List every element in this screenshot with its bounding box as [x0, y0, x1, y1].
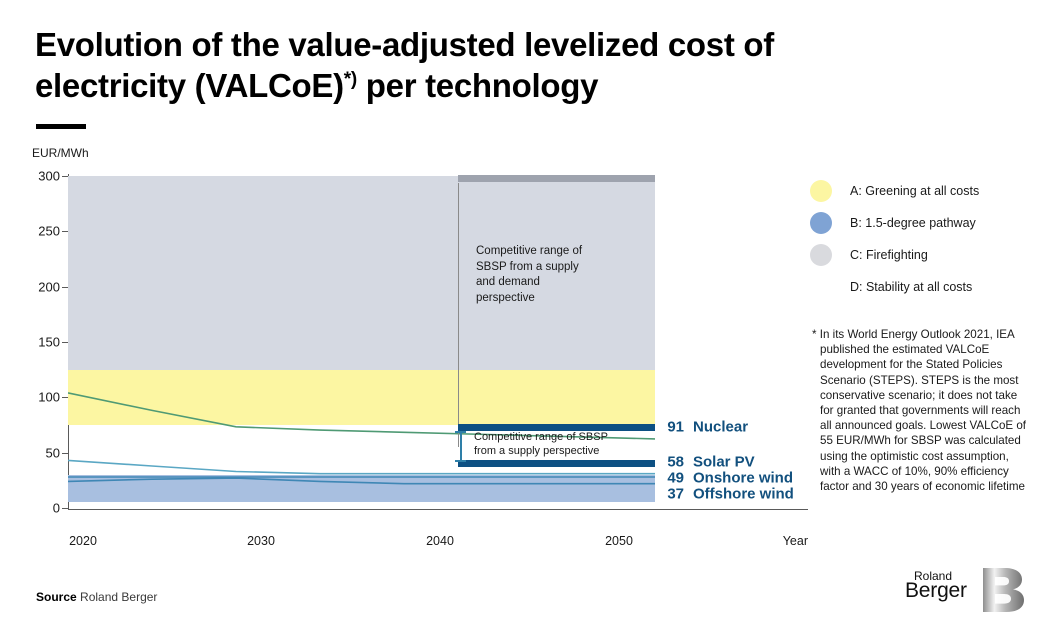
x-tick-2030: 2030 — [247, 534, 275, 548]
series-lines — [68, 176, 655, 508]
competitive-range-supply-arrow — [460, 431, 462, 461]
page-title-line2-tail: per technology — [357, 67, 598, 104]
x-axis-line — [68, 509, 808, 510]
annotation-supply-demand-range: Competitive range of SBSP from a supply … — [476, 244, 588, 306]
end-label-solar-pv: 58Solar PV — [658, 454, 755, 471]
legend-item-stability: D: Stability at all costs — [810, 271, 1030, 303]
x-tick-2020: 2020 — [69, 534, 97, 548]
footnote-text: * In its World Energy Outlook 2021, IEA … — [812, 327, 1032, 494]
competitive-range-supply-bar-lower — [458, 460, 655, 467]
y-tick-250: 250 — [16, 224, 60, 239]
roland-berger-logo: Roland Berger — [905, 567, 1025, 615]
y-tick-200: 200 — [16, 279, 60, 294]
y-tick-300: 300 — [16, 169, 60, 184]
legend-item-15-degree: B: 1.5-degree pathway — [810, 207, 1030, 239]
y-tick-150: 150 — [16, 335, 60, 350]
source-value: Roland Berger — [80, 590, 157, 604]
legend-label-15-degree: B: 1.5-degree pathway — [850, 216, 976, 230]
legend-item-firefighting: C: Firefighting — [810, 239, 1030, 271]
legend-label-stability: D: Stability at all costs — [850, 280, 972, 294]
line-offshore-wind — [68, 478, 655, 484]
end-label-onshore-wind-name: Onshore wind — [693, 470, 793, 487]
chart-legend: A: Greening at all costs B: 1.5-degree p… — [810, 175, 1030, 303]
x-tick-2040: 2040 — [426, 534, 454, 548]
y-tick-0: 0 — [16, 501, 60, 516]
legend-label-firefighting: C: Firefighting — [850, 248, 928, 262]
end-label-offshore-wind-value: 37 — [658, 486, 684, 503]
end-label-onshore-wind-value: 49 — [658, 470, 684, 487]
competitive-range-supply-demand-connector — [458, 183, 459, 447]
x-axis-ticks: 2020 2030 2040 2050 Year — [68, 534, 808, 554]
legend-swatch-firefighting-icon — [810, 244, 832, 266]
page-title: Evolution of the value-adjusted levelize… — [35, 24, 795, 106]
arrow-cap-bottom — [455, 460, 466, 462]
page-title-line2: electricity (VALCoE) — [35, 67, 344, 104]
legend-label-greening: A: Greening at all costs — [850, 184, 979, 198]
end-label-offshore-wind: 37Offshore wind — [658, 486, 794, 503]
y-tick-50: 50 — [16, 445, 60, 460]
annotation-supply-range: Competitive range of SBSP from a supply … — [474, 430, 614, 458]
x-axis-title: Year — [783, 534, 808, 548]
slide-root: Evolution of the value-adjusted levelize… — [0, 0, 1050, 635]
legend-item-greening: A: Greening at all costs — [810, 175, 1030, 207]
legend-swatch-15-degree-icon — [810, 212, 832, 234]
end-label-nuclear-value: 91 — [658, 419, 684, 436]
x-tick-2050: 2050 — [605, 534, 633, 548]
y-tick-100: 100 — [16, 390, 60, 405]
legend-swatch-greening-icon — [810, 180, 832, 202]
source-line: Source Roland Berger — [36, 590, 157, 604]
y-axis-unit-label: EUR/MWh — [32, 146, 89, 160]
logo-text-berger: Berger — [905, 579, 967, 603]
end-label-solar-pv-value: 58 — [658, 454, 684, 471]
end-label-solar-pv-name: Solar PV — [693, 454, 755, 471]
logo-b-mark-icon — [981, 567, 1025, 613]
end-label-offshore-wind-name: Offshore wind — [693, 486, 794, 503]
end-label-nuclear-name: Nuclear — [693, 419, 748, 436]
arrow-cap-top — [455, 431, 466, 433]
end-label-nuclear: 91Nuclear — [658, 419, 748, 436]
page-title-line1: Evolution of the value-adjusted levelize… — [35, 26, 774, 63]
end-label-onshore-wind: 49Onshore wind — [658, 470, 793, 487]
source-label: Source — [36, 590, 77, 604]
title-underline-rule — [36, 124, 86, 129]
y-axis-ticks: 300 250 200 150 100 50 0 — [14, 176, 60, 508]
competitive-range-supply-demand-bar — [458, 175, 655, 182]
legend-swatch-stability-icon — [810, 276, 832, 298]
page-title-footnote-marker: *) — [344, 69, 357, 90]
